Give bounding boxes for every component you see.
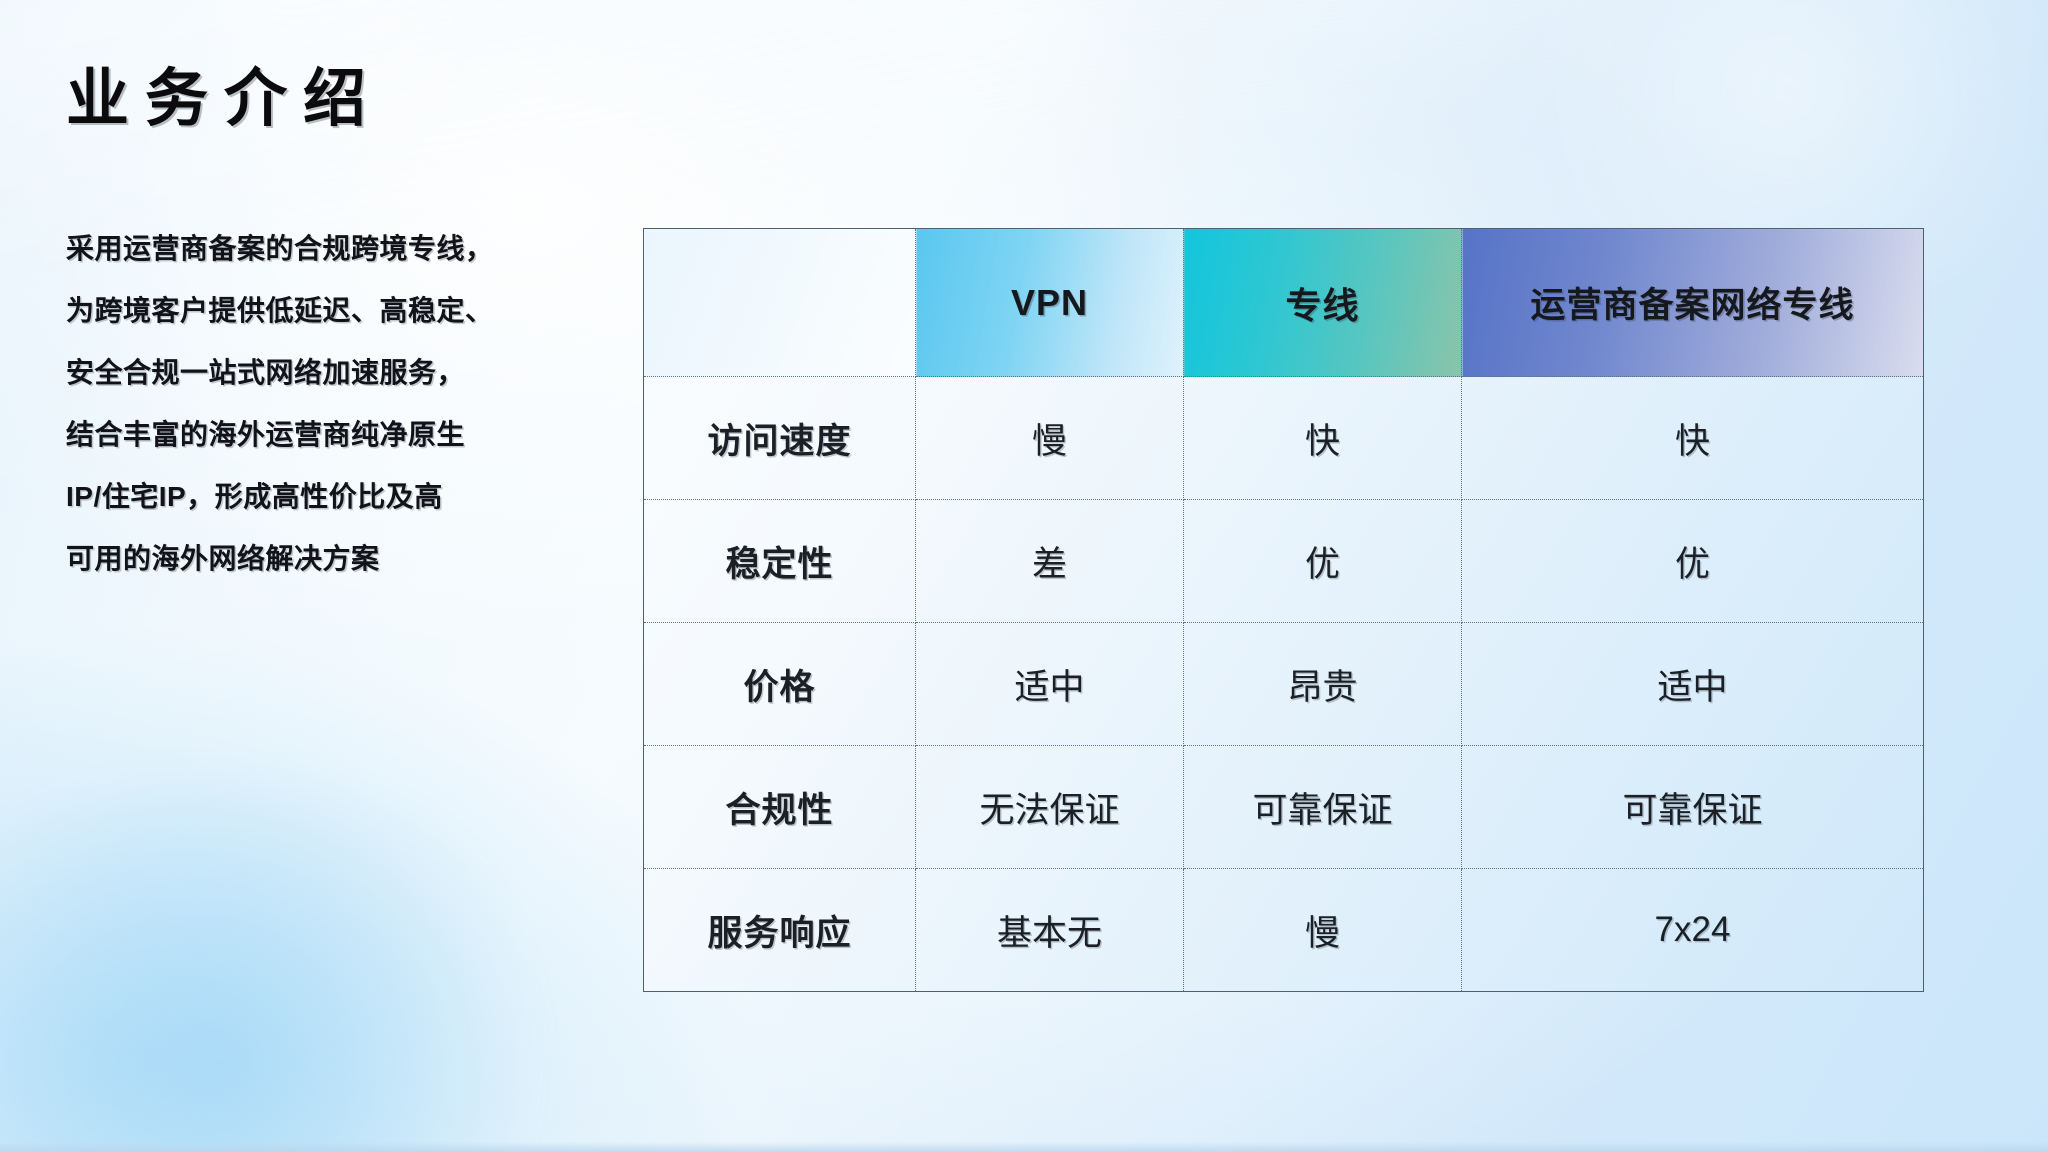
cell-vpn: 差 [916, 500, 1184, 623]
table-row: 合规性 无法保证 可靠保证 可靠保证 [644, 746, 1924, 869]
comparison-table: VPN 专线 运营商备案网络专线 访问速度 慢 快 快 稳定性 差 优 优 价格… [643, 228, 1924, 992]
table-header-cell-blank [644, 229, 916, 377]
intro-line: 采用运营商备案的合规跨境专线， [66, 235, 626, 263]
cell-operator-line: 快 [1462, 377, 1924, 500]
row-label-compliance: 合规性 [644, 746, 916, 869]
intro-paragraph: 采用运营商备案的合规跨境专线， 为跨境客户提供低延迟、高稳定、 安全合规一站式网… [66, 235, 626, 573]
table-header: VPN 专线 运营商备案网络专线 [644, 229, 1924, 377]
intro-line: 为跨境客户提供低延迟、高稳定、 [66, 297, 626, 325]
background-glow-bottom-left [0, 782, 600, 1152]
cell-vpn: 适中 [916, 623, 1184, 746]
cell-operator-line: 优 [1462, 500, 1924, 623]
cell-operator-line: 可靠保证 [1462, 746, 1924, 869]
table-row: 服务响应 基本无 慢 7x24 [644, 869, 1924, 992]
table-row: 稳定性 差 优 优 [644, 500, 1924, 623]
cell-dedicated-line: 优 [1184, 500, 1462, 623]
cell-vpn: 基本无 [916, 869, 1184, 992]
row-label-price: 价格 [644, 623, 916, 746]
table-header-row: VPN 专线 运营商备案网络专线 [644, 229, 1924, 377]
intro-line: IP/住宅IP，形成高性价比及高 [66, 483, 626, 511]
cell-dedicated-line: 可靠保证 [1184, 746, 1462, 869]
table-header-cell-dedicated-line: 专线 [1184, 229, 1462, 377]
table-row: 访问速度 慢 快 快 [644, 377, 1924, 500]
table-header-cell-vpn: VPN [916, 229, 1184, 377]
cell-vpn: 无法保证 [916, 746, 1184, 869]
background-light-streak [883, 0, 1618, 207]
background-bottom-edge [0, 1142, 2048, 1152]
row-label-stability: 稳定性 [644, 500, 916, 623]
intro-line: 可用的海外网络解决方案 [66, 545, 626, 573]
row-label-service-response: 服务响应 [644, 869, 916, 992]
cell-dedicated-line: 昂贵 [1184, 623, 1462, 746]
cell-dedicated-line: 慢 [1184, 869, 1462, 992]
intro-line: 结合丰富的海外运营商纯净原生 [66, 421, 626, 449]
cell-operator-line: 适中 [1462, 623, 1924, 746]
row-label-access-speed: 访问速度 [644, 377, 916, 500]
table-row: 价格 适中 昂贵 适中 [644, 623, 1924, 746]
table-body: 访问速度 慢 快 快 稳定性 差 优 优 价格 适中 昂贵 适中 合规性 无法保… [644, 377, 1924, 992]
cell-operator-line: 7x24 [1462, 869, 1924, 992]
page-title: 业务介绍 [66, 60, 382, 139]
slide-canvas: 业务介绍 采用运营商备案的合规跨境专线， 为跨境客户提供低延迟、高稳定、 安全合… [0, 0, 2048, 1152]
cell-vpn: 慢 [916, 377, 1184, 500]
table-header-cell-operator-line: 运营商备案网络专线 [1462, 229, 1924, 377]
cell-dedicated-line: 快 [1184, 377, 1462, 500]
intro-line: 安全合规一站式网络加速服务， [66, 359, 626, 387]
